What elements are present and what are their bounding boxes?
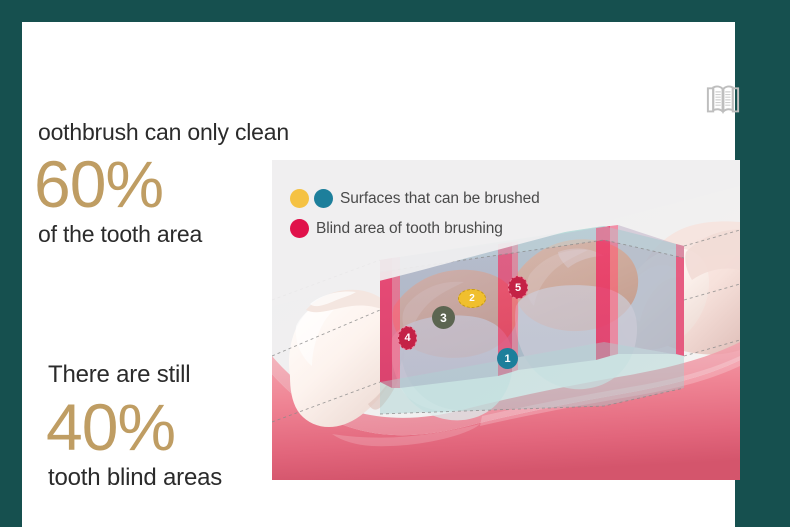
- legend-item-blind: Blind area of tooth brushing: [290, 215, 540, 242]
- marker-4[interactable]: 4: [398, 326, 417, 350]
- marker-3[interactable]: 3: [432, 306, 455, 329]
- stat-top-line1: oothbrush can only clean: [38, 118, 338, 147]
- legend-dot-crimson: [290, 219, 309, 238]
- tooth-illustration-panel: Surfaces that can be brushed Blind area …: [272, 160, 740, 480]
- marker-5[interactable]: 5: [508, 276, 528, 299]
- open-book-icon: [705, 83, 741, 115]
- legend-label-brushable: Surfaces that can be brushed: [340, 190, 540, 208]
- legend-item-brushable: Surfaces that can be brushed: [290, 185, 540, 212]
- legend-dot-teal: [314, 189, 333, 208]
- page-root: oothbrush can only clean 60% of the toot…: [0, 0, 790, 527]
- frame-left-bar: [0, 0, 22, 527]
- frame-top-bar: [0, 0, 790, 22]
- frame-right-bar: [735, 0, 790, 527]
- marker-1[interactable]: 1: [497, 348, 518, 369]
- marker-2[interactable]: 2: [458, 289, 486, 308]
- legend-label-blind: Blind area of tooth brushing: [316, 220, 503, 238]
- legend: Surfaces that can be brushed Blind area …: [290, 185, 540, 245]
- legend-dot-yellow: [290, 189, 309, 208]
